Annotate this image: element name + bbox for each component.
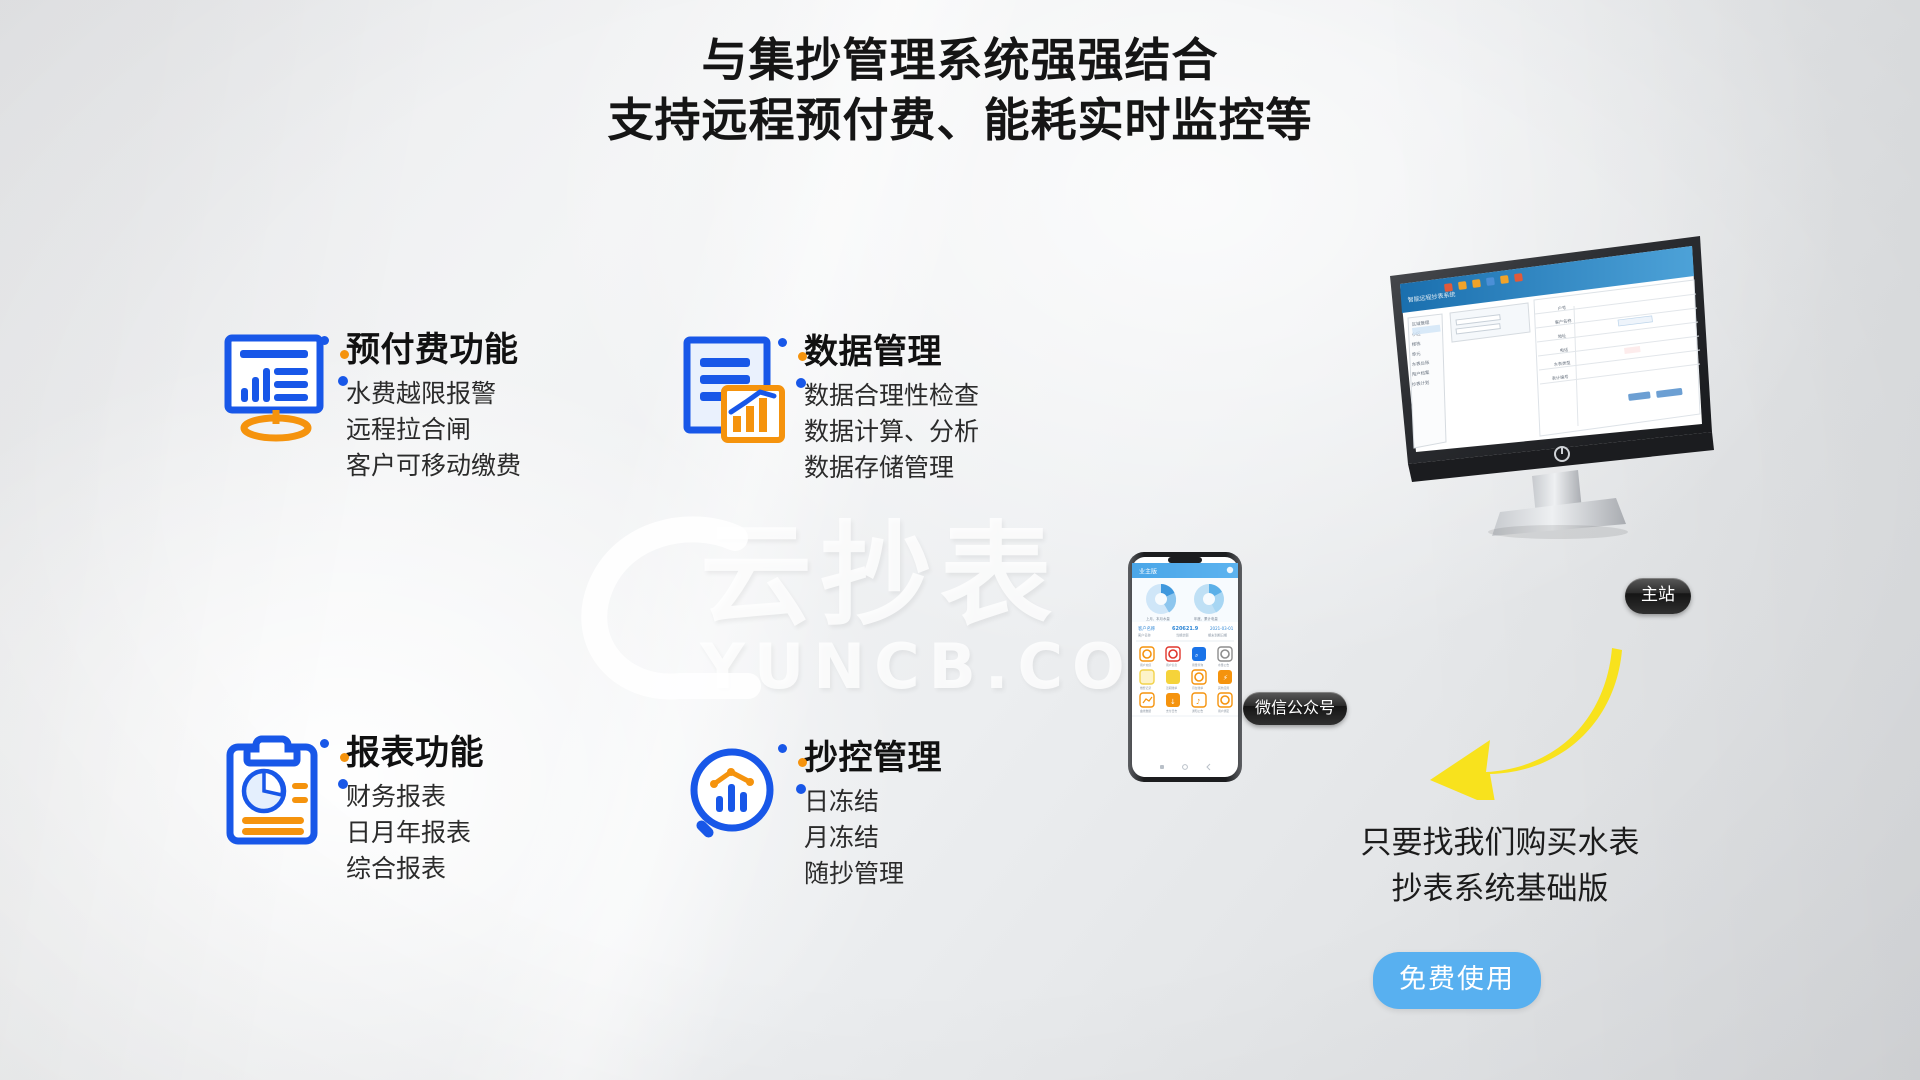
magnifier-chart-icon xyxy=(680,738,788,856)
feature-icon-wrap xyxy=(222,330,330,448)
svg-text:⚡: ⚡ xyxy=(1223,674,1228,682)
decor-dots xyxy=(776,738,810,804)
mobile-phone: 业主版 上月、本月水量 年度、累计电量 客户名称 客户名称 620621.9 当… xyxy=(1128,552,1242,782)
svg-text:业主版: 业主版 xyxy=(1139,568,1157,576)
feature-icon-wrap xyxy=(680,332,788,450)
svg-text:近期账单: 近期账单 xyxy=(1166,686,1177,690)
feature-bullet: 数据存储管理 xyxy=(804,450,979,486)
decor-dots xyxy=(318,733,352,799)
svg-text:用户信息: 用户信息 xyxy=(1166,663,1177,667)
feature-bullet: 日月年报表 xyxy=(346,815,484,851)
desktop-monitor: 智能远程抄表系统 区域管理 小区 楼栋 单元 水表台账 用户档案 抄表计划 xyxy=(1382,236,1722,556)
feature-icon-wrap xyxy=(680,738,788,856)
svg-text:通知公告: 通知公告 xyxy=(1192,709,1203,713)
svg-text:曲线数据: 曲线数据 xyxy=(1140,709,1151,713)
svg-text:2021-03-01: 2021-03-01 xyxy=(1210,626,1234,631)
feature-bullet: 客户可移动缴费 xyxy=(346,448,521,484)
svg-text:用量查询: 用量查询 xyxy=(1192,663,1203,667)
feature-bullet: 综合报表 xyxy=(346,851,484,887)
phone-illustration: 业主版 上月、本月水量 年度、累计电量 客户名称 客户名称 620621.9 当… xyxy=(1128,552,1242,782)
svg-text:↓: ↓ xyxy=(1170,698,1176,706)
presentation-chart-icon xyxy=(222,330,330,448)
feature-heading: 数据管理 xyxy=(804,332,979,372)
feature-heading: 预付费功能 xyxy=(346,330,521,370)
yellow-arrow-icon xyxy=(1424,640,1624,800)
svg-text:用户充值: 用户充值 xyxy=(1140,663,1151,667)
svg-text:当期余额: 当期余额 xyxy=(1176,633,1190,638)
feature-text: 数据管理 数据合理性检查 数据计算、分析 数据存储管理 xyxy=(804,332,979,486)
svg-text:⌕: ⌕ xyxy=(1195,652,1198,659)
svg-text:620621.9: 620621.9 xyxy=(1172,626,1199,632)
feature-data-management: 数据管理 数据合理性检查 数据计算、分析 数据存储管理 xyxy=(680,332,979,486)
svg-text:地址: 地址 xyxy=(1557,332,1567,339)
svg-text:用户绑定: 用户绑定 xyxy=(1218,709,1229,713)
decor-dots xyxy=(776,332,810,398)
brand-swirl-icon xyxy=(570,510,780,710)
svg-text:期末到期日期: 期末到期日期 xyxy=(1208,633,1227,638)
feature-bullet: 数据计算、分析 xyxy=(804,414,979,450)
svg-text:月台账单: 月台账单 xyxy=(1192,686,1203,690)
feature-bullet: 月冻结 xyxy=(804,820,942,856)
feature-heading: 抄控管理 xyxy=(804,738,942,778)
promo-copy: 只要找我们购买水表 抄表系统基础版 xyxy=(1290,820,1710,912)
free-trial-button[interactable]: 免费使用 xyxy=(1373,952,1541,1009)
svg-text:水量公告: 水量公告 xyxy=(1218,663,1229,667)
feature-meter-reading-control: 抄控管理 日冻结 月冻结 随抄管理 xyxy=(680,738,942,892)
title-line-1: 与集抄管理系统强强结合 xyxy=(0,30,1920,90)
svg-text:♪: ♪ xyxy=(1196,698,1200,706)
promo-line-1: 只要找我们购买水表 xyxy=(1290,820,1710,866)
svg-text:年度、累计电量: 年度、累计电量 xyxy=(1194,616,1218,621)
feature-bullet: 财务报表 xyxy=(346,779,484,815)
feature-bullet: 数据合理性检查 xyxy=(804,378,979,414)
document-chart-icon xyxy=(680,332,788,450)
feature-icon-wrap xyxy=(222,733,330,851)
svg-text:支付日志: 支付日志 xyxy=(1166,709,1177,713)
feature-heading: 报表功能 xyxy=(346,733,484,773)
feature-reports: 报表功能 财务报表 日月年报表 综合报表 xyxy=(222,733,484,887)
svg-text:客户名称: 客户名称 xyxy=(1138,633,1152,638)
master-station-badge: 主站 xyxy=(1625,578,1691,614)
feature-bullet: 日冻结 xyxy=(804,784,942,820)
svg-text:缴费记录: 缴费记录 xyxy=(1140,686,1151,690)
svg-text:其他应用: 其他应用 xyxy=(1218,686,1229,690)
svg-text:上月、本月水量: 上月、本月水量 xyxy=(1146,616,1170,621)
decor-dots xyxy=(318,330,352,396)
clipboard-pie-icon xyxy=(222,733,330,851)
feature-text: 预付费功能 水费越限报警 远程拉合闸 客户可移动缴费 xyxy=(346,330,521,484)
feature-bullet: 随抄管理 xyxy=(804,856,942,892)
title-line-2: 支持远程预付费、能耗实时监控等 xyxy=(0,90,1920,150)
svg-text:客户名称: 客户名称 xyxy=(1138,625,1156,632)
wechat-official-account-badge: 微信公众号 xyxy=(1243,692,1347,725)
feature-text: 抄控管理 日冻结 月冻结 随抄管理 xyxy=(804,738,942,892)
page-title: 与集抄管理系统强强结合 支持远程预付费、能耗实时监控等 xyxy=(0,30,1920,150)
feature-text: 报表功能 财务报表 日月年报表 综合报表 xyxy=(346,733,484,887)
monitor-illustration: 智能远程抄表系统 区域管理 小区 楼栋 单元 水表台账 用户档案 抄表计划 xyxy=(1382,236,1722,556)
feature-prepaid: 预付费功能 水费越限报警 远程拉合闸 客户可移动缴费 xyxy=(222,330,521,484)
promo-line-2: 抄表系统基础版 xyxy=(1290,866,1710,912)
feature-bullet: 远程拉合闸 xyxy=(346,412,521,448)
feature-bullet: 水费越限报警 xyxy=(346,376,521,412)
